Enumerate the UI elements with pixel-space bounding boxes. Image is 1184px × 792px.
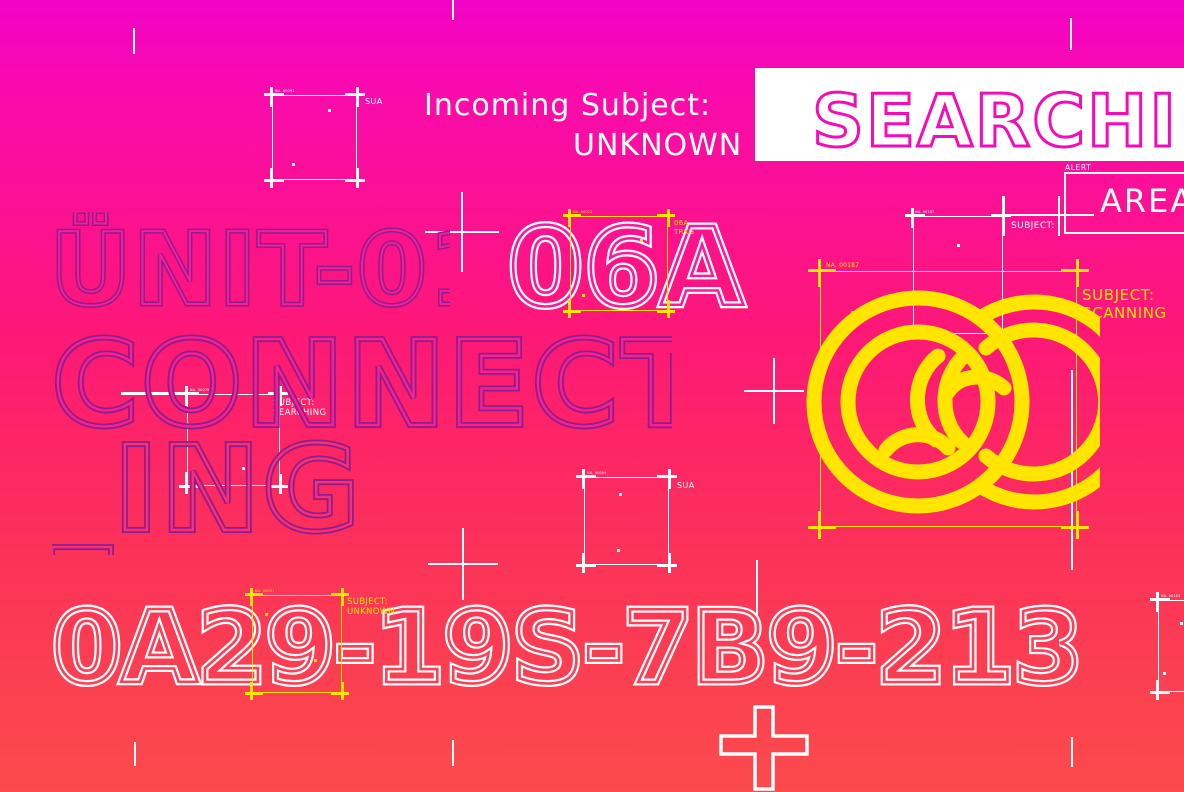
tracking-tick-tl-h — [563, 214, 581, 216]
tracking-frame-id: NA. 00012 — [573, 210, 593, 214]
crop-dot-b — [292, 163, 295, 166]
subject-scanning-text: SUBJECT:SCANNING — [1082, 286, 1167, 322]
incoming-subject-line1: Incoming Subject: — [424, 88, 711, 123]
crop-dot-a — [1180, 622, 1183, 625]
edge-tick-bottom-left — [134, 742, 136, 766]
edge-tick-bottom-right — [1071, 737, 1073, 767]
crosshair-vertical — [773, 358, 775, 424]
crosshair-icon-right — [744, 358, 804, 424]
alert-area-text: AREA — [1100, 182, 1184, 220]
crop-frame-label: SUA — [365, 97, 383, 106]
crop-frame-border — [272, 95, 357, 180]
subject-frame-label: SUBJECT: — [1011, 221, 1055, 231]
subject-frame-dot — [957, 244, 960, 247]
tracking-frame-serial: NA. 00031 SUBJECT: UNKNOWN — [252, 595, 342, 693]
tracking-tick-tr-v — [341, 588, 343, 606]
crop-frame-label: SUA — [677, 481, 695, 490]
subject-frame-id: NA. 00187 — [915, 210, 935, 214]
crop-tick-bl-h — [1150, 691, 1170, 693]
tracking-tick-bl-v — [250, 682, 252, 700]
tracking-tick-bl-h — [563, 310, 581, 312]
crop-tick-br-h — [657, 564, 677, 566]
scan-line2: SCANNING — [1082, 304, 1167, 322]
tracking-tick-bl-h — [808, 526, 836, 529]
tracking-frame-tag-l2: TRKG — [674, 228, 694, 238]
tracking-tick-tl-h — [808, 269, 836, 272]
unit-01-display-text: ÜNIT-01 ÜNIT-01 — [50, 212, 450, 322]
subject-tick-tl-h — [905, 214, 925, 216]
crop-dot-b — [1163, 672, 1166, 675]
svg-text:_ING: _ING — [52, 420, 363, 555]
crop-frame-top-left: NA. 00091 SUA — [272, 95, 357, 180]
crop-tick-bl-v — [582, 553, 584, 573]
tracking-tick-br-v — [341, 682, 343, 700]
interlocking-rings-emblem-icon — [790, 280, 1100, 525]
tracking-tick-tr-h — [331, 593, 349, 595]
searching-banner-text: SEARCHI — [812, 79, 1178, 163]
svg-text:0A29-19S-7B9-2131: 0A29-19S-7B9-2131 — [52, 592, 1082, 704]
edge-tick-top-right — [1070, 18, 1072, 50]
poster-canvas: Incoming Subject: UNKNOWN SEARCHI ALERT … — [0, 0, 1184, 792]
crop-tick-bl-h — [576, 564, 596, 566]
tracking-tick-tr-h — [1061, 269, 1089, 272]
crop-tick-tr-v — [356, 87, 358, 107]
crop-tick-tr-h — [345, 93, 365, 95]
incoming-subject-line2: UNKNOWN — [573, 128, 742, 163]
crop-tick-tl-h — [264, 93, 284, 95]
tracking-frame-id: NA. 00031 — [255, 589, 275, 593]
plus-icon-large — [718, 705, 810, 791]
connecting-display-text: CONNECT CONNECT _ING _ING — [52, 325, 672, 555]
crop-frame-border — [1158, 600, 1184, 692]
subject-frame-extension-line — [1002, 214, 1094, 216]
tracking-tick-br-h — [331, 692, 349, 694]
tracking-tick-br-h — [657, 310, 675, 312]
crop-tick-bl-v — [270, 168, 272, 188]
crop-dot-a — [328, 109, 331, 112]
tracking-frame-id: NA. 00187 — [826, 262, 859, 269]
scan-line1: SUBJECT: — [1082, 286, 1155, 304]
crop-frame-right-edge: NA. 00103 — [1158, 600, 1184, 692]
svg-text:ÜNIT-01: ÜNIT-01 — [50, 212, 450, 322]
crosshair-vertical — [461, 192, 463, 272]
tracking-tick-tl-v — [250, 588, 252, 606]
tracking-tick-br-v — [667, 300, 669, 318]
tracking-tick-bl-h — [245, 692, 263, 694]
tracking-dot-a — [640, 239, 643, 242]
crop-frame-id: NA. 00091 — [275, 89, 295, 93]
serial-number-display-text: 0A29-19S-7B9-2131 0A29-19S-7B9-2131 — [52, 592, 1082, 704]
tracking-dot-a — [265, 613, 268, 616]
tracking-tick-tr-v — [667, 209, 669, 227]
tracking-frame-border — [252, 595, 342, 693]
crop-tick-bl-v — [1156, 680, 1158, 700]
plus-icon-path — [721, 707, 807, 789]
crop-tick-br-v — [356, 168, 358, 188]
tracking-frame-06a: NA. 00012 06A TRKG — [570, 216, 668, 311]
tracking-dot-b — [314, 659, 317, 662]
edge-tick-bottom-mid — [452, 740, 454, 766]
crop-tick-tl-v — [270, 87, 272, 107]
crop-frame-id: NA. 00103 — [1161, 594, 1181, 598]
alert-label: ALERT — [1065, 163, 1091, 172]
edge-tick-top-mid — [452, 0, 454, 20]
crop-tick-bl-h — [264, 179, 284, 181]
tracking-tick-tl-v — [568, 209, 570, 227]
tracking-tick-bl-v — [568, 300, 570, 318]
tracking-dot-b — [582, 294, 585, 297]
crop-tick-br-v — [668, 553, 670, 573]
subject-frame-vert-line — [1058, 196, 1060, 236]
crop-tick-br-h — [345, 179, 365, 181]
tracking-frame-tag-l2: UNKNOWN — [347, 608, 395, 618]
tracking-tick-tl-h — [245, 593, 263, 595]
crop-tick-tl-v — [1156, 592, 1158, 612]
crop-tick-tl-h — [1150, 598, 1170, 600]
subject-tick-tl-v — [911, 208, 913, 228]
tracking-tick-br-h — [1061, 526, 1089, 529]
tracking-tick-tr-h — [657, 214, 675, 216]
edge-tick-top-left — [133, 28, 135, 54]
